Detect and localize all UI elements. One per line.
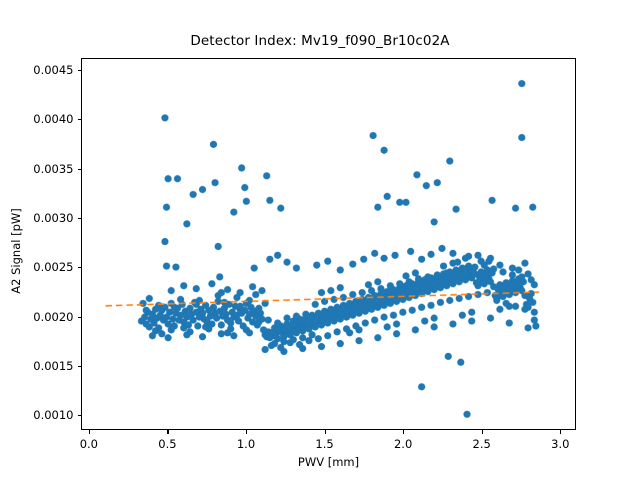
y-tick-mark [78, 267, 82, 268]
x-tick-mark [167, 430, 168, 434]
y-tick-mark [78, 70, 82, 71]
x-tick-mark [403, 430, 404, 434]
y-tick-mark [78, 317, 82, 318]
plot-area [81, 58, 576, 430]
chart-title: Detector Index: Mv19_f090_Br10c02A [0, 33, 640, 49]
x-tick-mark [246, 430, 247, 434]
matplotlib-figure: Detector Index: Mv19_f090_Br10c02A 0.001… [0, 0, 640, 480]
y-tick-mark [78, 169, 82, 170]
x-tick-label: 1.0 [216, 437, 276, 451]
y-tick-mark [78, 119, 82, 120]
x-tick-mark [89, 430, 90, 434]
y-tick-label: 0.0010 [4, 408, 74, 422]
x-tick-label: 3.0 [530, 437, 590, 451]
y-tick-mark [78, 366, 82, 367]
x-tick-label: 0.5 [137, 437, 197, 451]
trendline-layer [82, 59, 575, 429]
x-tick-label: 2.5 [452, 437, 512, 451]
x-axis-label: PWV [mm] [81, 455, 576, 469]
y-axis-label: A2 Signal [pW] [9, 151, 23, 351]
y-tick-mark [78, 218, 82, 219]
y-tick-label: 0.0045 [4, 63, 74, 77]
x-tick-label: 2.0 [373, 437, 433, 451]
y-tick-mark [78, 415, 82, 416]
y-tick-label: 0.0040 [4, 112, 74, 126]
x-tick-label: 1.5 [295, 437, 355, 451]
x-tick-mark [560, 430, 561, 434]
x-tick-label: 0.0 [59, 437, 119, 451]
x-tick-mark [482, 430, 483, 434]
x-tick-mark [325, 430, 326, 434]
y-tick-label: 0.0015 [4, 359, 74, 373]
